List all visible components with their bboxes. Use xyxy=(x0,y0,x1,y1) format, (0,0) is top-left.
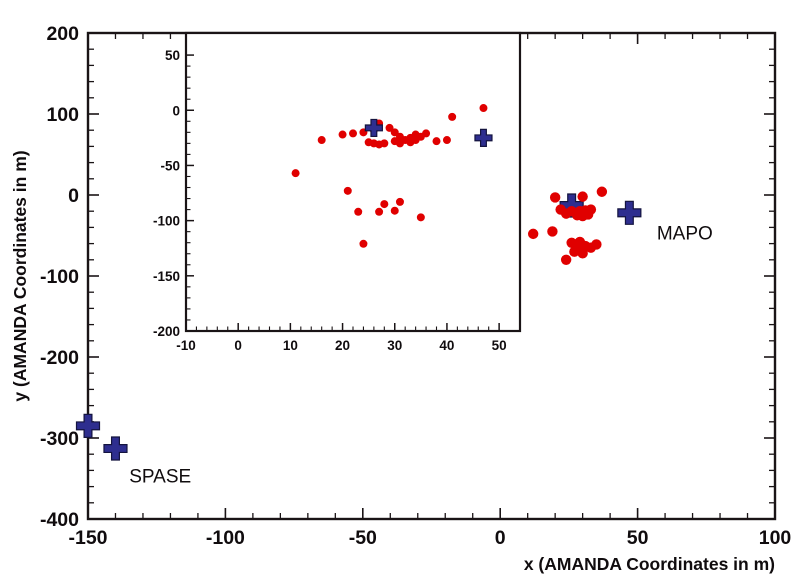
inset-x-tick-label: 10 xyxy=(283,338,298,353)
station-dot-marker xyxy=(547,226,557,236)
station-dot-marker xyxy=(577,191,587,201)
station-dot-marker xyxy=(528,229,538,239)
y-tick-label: -400 xyxy=(40,509,79,531)
inset-y-tick-label: 0 xyxy=(172,103,180,118)
y-tick-label: -100 xyxy=(40,266,79,288)
inset-station-dot-marker xyxy=(406,134,414,142)
inset-station-dot-marker xyxy=(344,187,352,195)
station-dot-marker xyxy=(561,208,571,218)
inset-station-dot-marker xyxy=(391,207,399,215)
inset-y-tick-label: 50 xyxy=(165,48,180,63)
y-tick-label: 200 xyxy=(46,23,79,45)
y-axis-title: y (AMANDA Coordinates in m) xyxy=(10,150,30,401)
station-dot-marker xyxy=(583,209,593,219)
inset-x-tick-label: 0 xyxy=(234,338,242,353)
station-dot-marker xyxy=(591,239,601,249)
inset-station-dot-marker xyxy=(349,129,357,137)
inset-station-dot-marker xyxy=(417,213,425,221)
inset-station-dot-marker xyxy=(339,131,347,139)
site-label-mapo: MAPO xyxy=(657,224,713,245)
inset-station-dot-marker xyxy=(380,200,388,208)
station-dot-marker xyxy=(561,255,571,265)
station-dot-marker xyxy=(577,248,587,258)
inset-x-tick-label: -10 xyxy=(176,338,196,353)
inset-station-dot-marker xyxy=(359,240,367,248)
inset-x-tick-label: 50 xyxy=(492,338,507,353)
x-tick-label: 100 xyxy=(759,527,792,549)
site-label-spase: SPASE xyxy=(129,467,191,488)
scatter-plot-figure: -150-100-50050100-400-300-200-1000100200… xyxy=(0,0,807,587)
inset-x-tick-label: 40 xyxy=(439,338,454,353)
station-dot-marker xyxy=(550,192,560,202)
inset-station-dot-marker xyxy=(433,137,441,145)
x-tick-label: -50 xyxy=(349,527,377,549)
inset-x-tick-label: 20 xyxy=(335,338,350,353)
x-tick-label: -100 xyxy=(206,527,245,549)
inset-plot-frame xyxy=(186,33,520,331)
inset-station-dot-marker xyxy=(443,136,451,144)
inset-axes-group: -1001020304050-200-150-100-50050 xyxy=(153,33,520,353)
x-axis-title: x (AMANDA Coordinates in m) xyxy=(524,554,775,574)
inset-station-dot-marker xyxy=(318,136,326,144)
inset-station-dot-marker xyxy=(354,208,362,216)
inset-y-tick-label: -100 xyxy=(153,214,180,229)
inset-station-dot-marker xyxy=(292,169,300,177)
inset-y-tick-label: -200 xyxy=(153,324,180,339)
inset-y-tick-label: -150 xyxy=(153,269,180,284)
inset-station-dot-marker xyxy=(375,208,383,216)
y-tick-label: 0 xyxy=(68,185,79,207)
inset-station-dot-marker xyxy=(479,104,487,112)
inset-station-dot-marker xyxy=(396,198,404,206)
y-tick-label: 100 xyxy=(46,104,79,126)
inset-y-tick-label: -50 xyxy=(160,158,180,173)
inset-station-dot-marker xyxy=(422,129,430,137)
inset-station-dot-marker xyxy=(365,138,373,146)
inset-x-tick-label: 30 xyxy=(387,338,402,353)
x-tick-label: 50 xyxy=(627,527,649,549)
station-dot-marker xyxy=(597,187,607,197)
y-tick-label: -300 xyxy=(40,428,79,450)
y-tick-label: -200 xyxy=(40,347,79,369)
x-tick-label: 0 xyxy=(495,527,506,549)
inset-station-dot-marker xyxy=(396,139,404,147)
plot-canvas: -150-100-50050100-400-300-200-1000100200… xyxy=(0,0,807,587)
inset-station-dot-marker xyxy=(448,113,456,121)
